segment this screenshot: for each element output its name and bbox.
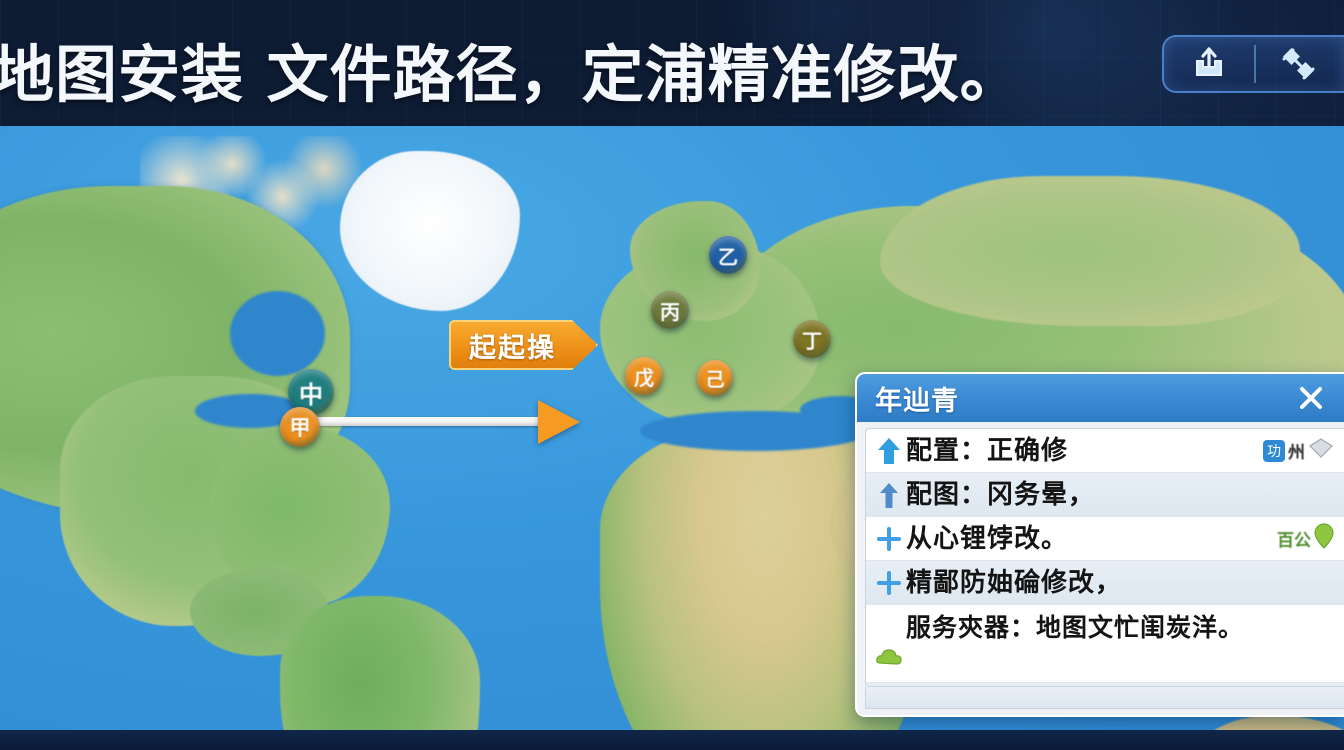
badge-label: 州	[1288, 438, 1305, 463]
export-button[interactable]	[1164, 37, 1254, 91]
map-marker[interactable]: 丁	[793, 320, 831, 358]
map-pin-icon	[1314, 523, 1334, 549]
info-panel-row[interactable]: 配图：冈务晕，	[866, 473, 1344, 517]
diamond-badge	[1308, 437, 1334, 464]
info-panel-footer	[865, 687, 1344, 709]
satellite-button[interactable]	[1254, 37, 1344, 91]
plus-icon	[872, 570, 906, 596]
map-marker-glyph: 乙	[718, 241, 738, 270]
map-marker-glyph: 己	[705, 365, 724, 392]
info-panel-row[interactable]: 从心锂饽改。百公	[866, 517, 1344, 561]
info-panel-title: 年辿青	[875, 379, 959, 418]
header-toolbar	[1162, 35, 1344, 93]
origin-banner-label: 起起操	[469, 326, 556, 365]
map-marker-glyph: 丙	[660, 296, 680, 325]
info-panel-row[interactable]: 服务㚒器：地图文忙闺炭洋。	[866, 605, 1344, 683]
info-panel-row-badge: 功州	[1255, 437, 1334, 464]
satellite-icon	[1279, 45, 1319, 83]
map-marker[interactable]: 甲	[280, 407, 320, 447]
info-panel-row-badge: 百公	[1269, 523, 1334, 554]
info-panel-row-label: 配置：正确修	[906, 429, 1255, 473]
plus-icon	[872, 526, 906, 552]
cloud-green-icon	[872, 609, 906, 669]
info-panel-row[interactable]: 配置：正确修功州	[866, 429, 1344, 473]
map-marker-glyph: 戊	[634, 362, 654, 391]
close-icon[interactable]	[1296, 383, 1326, 413]
bottom-bar	[0, 730, 1344, 750]
diamond-icon	[1308, 437, 1334, 459]
header-bar: 地图安装 文件路径，定浦精准修改。	[0, 0, 1344, 126]
page-title: 地图安装 文件路径，定浦精准修改。	[0, 24, 1023, 114]
pin-badge	[1314, 523, 1334, 554]
route-line	[300, 417, 545, 426]
info-panel-row-label: 配图：冈务晕，	[906, 473, 1334, 517]
origin-banner[interactable]: 起起操	[449, 320, 598, 370]
map-marker-glyph: 中	[299, 375, 323, 410]
info-panel-header: 年辿青	[857, 374, 1344, 422]
map-marker[interactable]: 丙	[651, 291, 689, 329]
map-marker[interactable]: 戊	[625, 357, 663, 395]
map-marker[interactable]: 乙	[709, 236, 747, 274]
route-arrowhead	[538, 400, 580, 444]
arrow-up-bold-icon	[872, 436, 906, 466]
badge-square-icon: 功	[1263, 440, 1285, 462]
export-icon	[1189, 45, 1229, 83]
land-siberia	[880, 176, 1300, 326]
info-panel-list: 配置：正确修功州配图：冈务晕，从心锂饽改。百公精鄙防妯碖修改，服务㚒器：地图文忙…	[865, 428, 1344, 687]
info-panel-row-label: 从心锂饽改。	[906, 517, 1269, 561]
sea-hudson-bay	[230, 291, 325, 376]
badge-label: 百公	[1277, 526, 1311, 551]
info-panel-row[interactable]: 精鄙防妯碖修改，	[866, 561, 1344, 605]
map-marker[interactable]: 己	[697, 360, 733, 396]
info-panel[interactable]: 年辿青 配置：正确修功州配图：冈务晕，从心锂饽改。百公精鄙防妯碖修改，服务㚒器：…	[855, 372, 1344, 717]
map-marker-glyph: 丁	[802, 325, 822, 354]
arrow-up-thin-icon	[872, 480, 906, 510]
info-panel-row-label: 精鄙防妯碖修改，	[906, 561, 1334, 605]
info-panel-row-label: 服务㚒器：地图文忙闺炭洋。	[906, 609, 1334, 647]
map-marker-glyph: 甲	[290, 412, 311, 442]
